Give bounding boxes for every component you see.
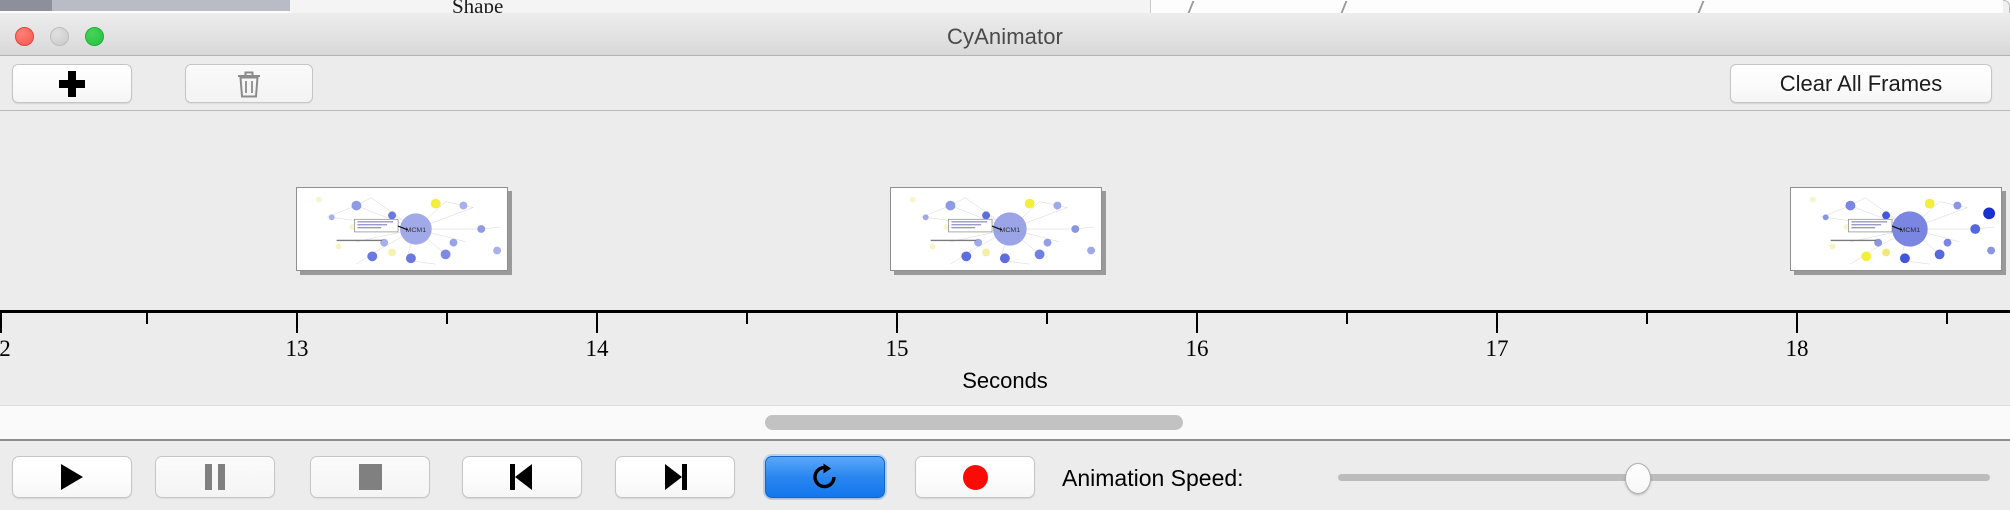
ruler-tick-minor — [1346, 313, 1348, 324]
background-panel-1 — [290, 0, 373, 14]
ruler-tick-minor — [746, 313, 748, 324]
ruler-label: 2 — [0, 336, 11, 362]
network-thumbnail: MCM1 — [891, 188, 1101, 270]
loop-icon — [811, 462, 839, 492]
background-tick-3 — [1698, 1, 1705, 13]
stop-icon — [359, 464, 382, 490]
ruler-label: 13 — [286, 336, 309, 362]
ruler-tick-minor — [146, 313, 148, 324]
animation-speed-label: Animation Speed: — [1062, 465, 1244, 492]
background-titlebar-dark — [0, 0, 52, 11]
timeline-frame-3[interactable]: MCM1 — [1790, 187, 2002, 271]
previous-frame-button[interactable] — [462, 456, 582, 498]
skip-forward-icon — [662, 464, 688, 490]
animation-speed-slider[interactable] — [1338, 463, 1990, 491]
background-titlebar-light — [52, 0, 290, 11]
background-panel-3 — [497, 0, 653, 14]
timeline-scrollbar[interactable] — [0, 405, 2010, 441]
network-thumbnail: MCM1 — [297, 188, 507, 270]
play-button[interactable] — [12, 456, 132, 498]
timeline-frame-1[interactable]: MCM1 — [296, 187, 508, 271]
background-tick-2 — [1341, 1, 1348, 13]
ruler-tick-major — [0, 313, 2, 333]
background-shape-label: Shape — [452, 0, 503, 14]
ruler-tick-major — [596, 313, 598, 333]
ruler-label: 17 — [1486, 336, 1509, 362]
ruler-tick-major — [1496, 313, 1498, 333]
ruler-tick-major — [896, 313, 898, 333]
plus-icon — [59, 71, 85, 97]
network-thumbnail: MCM1 — [1791, 188, 2001, 270]
slider-knob[interactable] — [1625, 463, 1651, 494]
svg-text:MCM1: MCM1 — [1900, 227, 1921, 234]
pause-icon — [205, 464, 225, 490]
toolbar: Clear All Frames — [0, 56, 2010, 111]
background-windows-strip: Shape — [0, 0, 2010, 14]
ruler-tick-major — [296, 313, 298, 333]
ruler-tick-major — [1796, 313, 1798, 333]
background-panel-5 — [850, 0, 1151, 14]
ruler-baseline — [0, 310, 2010, 313]
stop-button[interactable] — [310, 456, 430, 498]
ruler-label: 16 — [1186, 336, 1209, 362]
window-title: CyAnimator — [0, 24, 2010, 50]
timeline-frame-2[interactable]: MCM1 — [890, 187, 1102, 271]
ruler-tick-minor — [1046, 313, 1048, 324]
skip-back-icon — [509, 464, 535, 490]
slider-rail — [1338, 474, 1990, 481]
ruler-label: 14 — [586, 336, 609, 362]
clear-all-frames-button[interactable]: Clear All Frames — [1730, 64, 1992, 103]
trash-icon — [236, 69, 262, 99]
ruler-label: 15 — [886, 336, 909, 362]
background-tick-1 — [1188, 1, 1195, 13]
next-frame-button[interactable] — [615, 456, 735, 498]
scrollbar-thumb[interactable] — [765, 415, 1183, 430]
timeline-ruler[interactable]: 2 13 14 15 16 17 18 Seconds — [0, 310, 2010, 405]
ruler-tick-minor — [1946, 313, 1948, 324]
add-frame-button[interactable] — [12, 64, 132, 103]
delete-frame-button[interactable] — [185, 64, 313, 103]
playback-controls: Animation Speed: — [0, 443, 2010, 510]
cyanimator-window: Shape CyAnimator Clear All Frames — [0, 0, 2010, 510]
background-window-corner — [2003, 0, 2010, 14]
svg-text:MCM1: MCM1 — [1000, 227, 1021, 234]
clear-all-frames-label: Clear All Frames — [1780, 71, 1943, 97]
ruler-tick-major — [1196, 313, 1198, 333]
play-icon — [61, 464, 83, 490]
background-panel-4 — [652, 0, 851, 14]
ruler-label: 18 — [1786, 336, 1809, 362]
title-bar: CyAnimator — [0, 13, 2010, 56]
ruler-axis-title: Seconds — [0, 368, 2010, 394]
record-button[interactable] — [915, 456, 1035, 498]
ruler-tick-minor — [1646, 313, 1648, 324]
svg-text:MCM1: MCM1 — [406, 227, 427, 234]
loop-button[interactable] — [765, 456, 885, 498]
frame-track[interactable]: MCM1 — [0, 111, 2010, 310]
pause-button[interactable] — [155, 456, 275, 498]
record-icon — [963, 465, 988, 490]
ruler-tick-minor — [446, 313, 448, 324]
